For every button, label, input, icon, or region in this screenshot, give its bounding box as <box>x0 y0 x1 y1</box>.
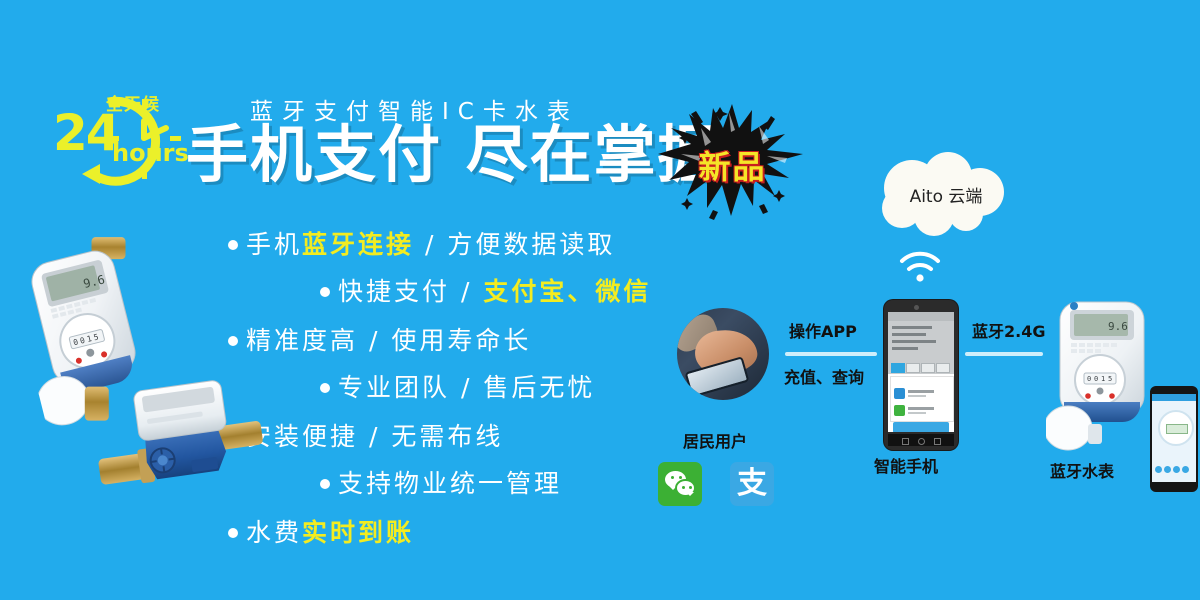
bullet-dot-icon <box>320 383 330 393</box>
node-label-meter: 蓝牙水表 <box>1050 458 1114 482</box>
meter-app-button <box>1155 466 1162 473</box>
meter-app-button <box>1182 466 1189 473</box>
list-item-title <box>908 407 934 410</box>
held-phone-shape <box>685 356 750 398</box>
meter-app-button <box>1164 466 1171 473</box>
list-item: 精准度高 / 使用寿命长 <box>228 328 698 353</box>
list-item: 安装便捷 / 无需布线 <box>228 424 698 449</box>
feature-text-pre: 安装便捷 / 无需布线 <box>246 422 503 451</box>
meter-dial-graphic <box>1158 410 1194 446</box>
feature-list: 手机蓝牙连接 / 方便数据读取 快捷支付 / 支付宝、微信 精准度高 / 使用寿… <box>228 232 698 545</box>
list-item: 专业团队 / 售后无忧 <box>228 375 698 400</box>
bullet-dot-icon <box>228 336 238 346</box>
user-hand-phone-photo <box>677 308 769 400</box>
valve-water-meter-photo <box>79 358 277 522</box>
bullet-dot-icon <box>320 479 330 489</box>
24-hours-logo: 全天候 24 hours <box>48 86 188 196</box>
meter-app-button <box>1173 466 1180 473</box>
feature-text-pre: 手机 <box>246 230 302 259</box>
logo-hours-text: hours <box>112 141 189 165</box>
node-label-user: 居民用户 <box>683 428 747 452</box>
phone-mini-button <box>906 363 920 373</box>
wechat-dot <box>682 486 685 489</box>
connector-label-operate-app: 操作APP <box>789 318 857 342</box>
meter-app-screen <box>1152 394 1196 482</box>
logo-24-text: 24 <box>53 108 119 158</box>
feature-text-pre: 快捷支付 / <box>338 277 483 306</box>
phone-mini-button <box>936 363 950 373</box>
bullet-dot-icon <box>228 240 238 250</box>
feature-text-pre: 支持物业统一管理 <box>338 469 562 498</box>
phone-nav-bar <box>888 434 954 446</box>
list-item <box>894 387 950 401</box>
feature-text-pre: 专业团队 / 售后无忧 <box>338 373 595 402</box>
wechat-dot <box>689 486 692 489</box>
feature-text-pre: 精准度高 / 使用寿命长 <box>246 326 531 355</box>
phone-info-row <box>892 326 932 329</box>
phone-back-button <box>902 438 909 445</box>
phone-home-button <box>918 438 925 445</box>
wechat-pay-icon[interactable] <box>658 462 702 506</box>
svg-text:0: 0 <box>1087 375 1091 383</box>
phone-screen <box>888 312 954 432</box>
phone-app-navbar <box>888 312 954 321</box>
list-item: 手机蓝牙连接 / 方便数据读取 <box>228 232 698 257</box>
feature-text-highlight: 蓝牙连接 <box>302 230 414 259</box>
banner-title: 手机支付 尽在掌握 <box>186 122 722 188</box>
wechat-dot <box>671 476 674 479</box>
list-item <box>894 404 950 418</box>
smartphone-icon <box>884 300 958 450</box>
svg-text:0: 0 <box>1094 375 1098 383</box>
connector-user-to-phone <box>785 352 877 356</box>
cloud-icon: Aito 云端 <box>862 152 1030 244</box>
wifi-icon <box>898 250 942 284</box>
phone-mini-button <box>891 363 905 373</box>
meter-app-phone-icon <box>1150 386 1198 492</box>
connector-phone-to-meter <box>965 352 1043 356</box>
list-item: 快捷支付 / 支付宝、微信 <box>228 279 698 304</box>
svg-text:5: 5 <box>1108 375 1112 383</box>
alipay-icon[interactable]: 支 <box>730 462 774 506</box>
feature-text-pre: 水费 <box>246 518 302 547</box>
bullet-dot-icon <box>320 287 330 297</box>
alipay-list-icon <box>894 388 905 399</box>
phone-info-row <box>892 333 926 336</box>
connector-label-recharge-query: 充值、查询 <box>784 364 864 388</box>
list-item-sub <box>908 395 926 397</box>
meter-app-buttons <box>1155 460 1193 472</box>
phone-button-row <box>891 360 951 368</box>
phone-confirm-pay-button <box>893 422 949 432</box>
phone-info-row <box>892 347 918 350</box>
feature-text-highlight: 实时到账 <box>302 518 414 547</box>
phone-mini-button <box>921 363 935 373</box>
bullet-dot-icon <box>228 528 238 538</box>
bluetooth-water-meter-photo: 9.6 0015 <box>1046 296 1166 456</box>
list-item-title <box>908 390 934 393</box>
connector-label-bluetooth: 蓝牙2.4G <box>972 318 1045 342</box>
node-label-smartphone: 智能手机 <box>874 453 938 477</box>
payment-icons: 支 <box>658 462 788 508</box>
feature-text-highlight: 支付宝、微信 <box>483 277 651 306</box>
phone-camera-dot <box>914 305 919 310</box>
alipay-glyph: 支 <box>730 464 774 504</box>
phone-recents-button <box>934 438 941 445</box>
phone-info-row <box>892 340 936 343</box>
new-product-label: 新品 <box>655 142 810 188</box>
cloud-label: Aito 云端 <box>862 182 1030 207</box>
phone-payment-list <box>890 376 954 422</box>
meter-dial-lcd <box>1166 424 1188 434</box>
feature-text-post: / 方便数据读取 <box>414 230 615 259</box>
wechat-list-icon <box>894 405 905 416</box>
list-item-sub <box>908 412 926 414</box>
new-product-badge: 新品 <box>655 98 810 223</box>
promo-banner: 全天候 24 hours 蓝牙支付智能IC卡水表 手机支付 尽在掌握 <box>0 0 1200 600</box>
svg-text:9.6: 9.6 <box>1108 320 1128 333</box>
wechat-dot <box>679 476 682 479</box>
list-item: 支持物业统一管理 <box>228 471 698 496</box>
meter-app-titlebar <box>1152 394 1196 401</box>
list-item: 水费实时到账 <box>228 520 698 545</box>
svg-text:1: 1 <box>1101 375 1105 383</box>
